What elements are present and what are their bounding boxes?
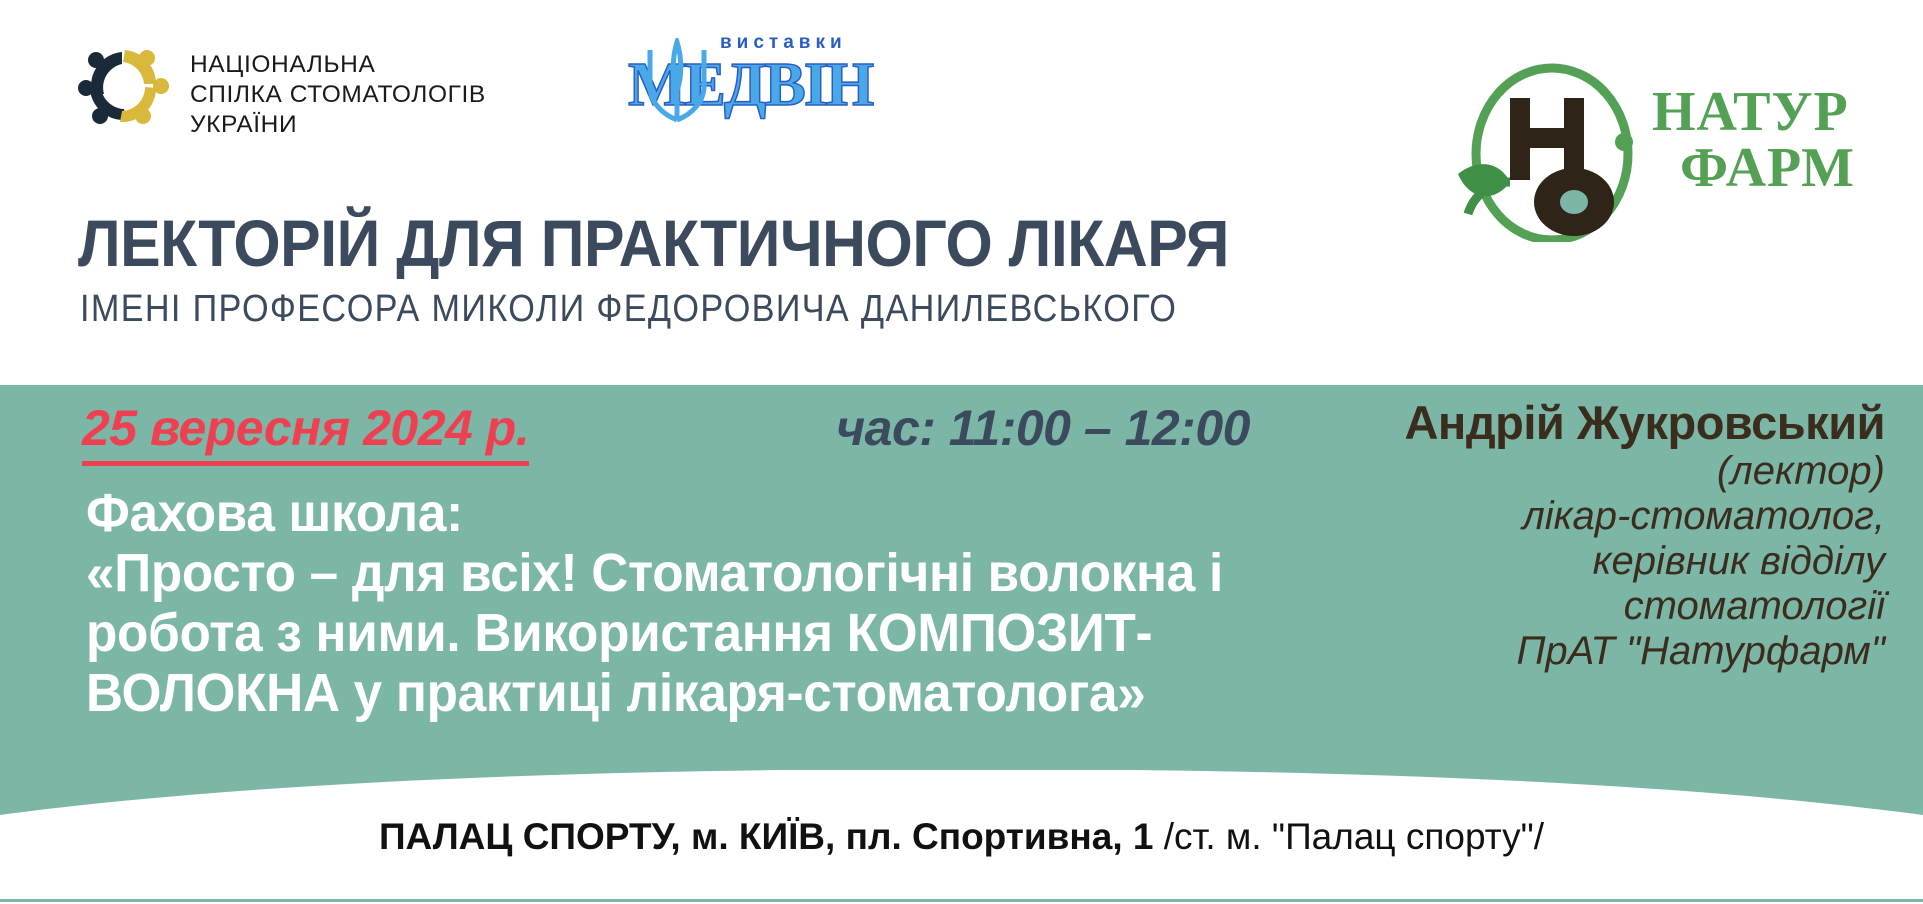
banner-footer: ПАЛАЦ СПОРТУ, м. КИЇВ, пл. Спортивна, 1 …: [0, 770, 1923, 904]
page-title: ЛЕКТОРІЙ ДЛЯ ПРАКТИЧНОГО ЛІКАРЯ: [78, 208, 1274, 278]
medvin-logo: МЕДВІН виставки: [628, 28, 868, 128]
nssu-line-1: НАЦІОНАЛЬНА: [190, 50, 500, 80]
event-date: 25 вересня 2024 р.: [82, 399, 529, 466]
naturfarm-line-2: ФАРМ: [1680, 140, 1892, 196]
naturfarm-egg-leaf-icon: [1452, 62, 1662, 242]
lecturer-title-3: стоматології: [1185, 584, 1885, 629]
school-line-2: «Просто – для всіх! Стоматологічні волок…: [86, 543, 1093, 603]
banner-header: НАЦІОНАЛЬНА СПІЛКА СТОМАТОЛОГІВ УКРАЇНИ …: [0, 0, 1923, 385]
school-line-4: ВОЛОКНА у практиці лікаря-стоматолога»: [86, 663, 1093, 723]
lecturer-role: (лектор): [1185, 449, 1885, 494]
event-banner: НАЦІОНАЛЬНА СПІЛКА СТОМАТОЛОГІВ УКРАЇНИ …: [0, 0, 1923, 904]
nssu-logo: НАЦІОНАЛЬНА СПІЛКА СТОМАТОЛОГІВ УКРАЇНИ: [70, 28, 490, 148]
naturfarm-logo: НАТУР ФАРМ: [1452, 62, 1882, 242]
school-line-1: Фахова школа:: [86, 483, 1093, 543]
nssu-logo-text: НАЦІОНАЛЬНА СПІЛКА СТОМАТОЛОГІВ УКРАЇНИ: [190, 50, 500, 140]
venue-metro-note: /ст. м. "Палац спорту"/: [1153, 816, 1544, 857]
lecturer-name: Андрій Жукровський: [1185, 397, 1885, 449]
school-line-3: робота з ними. Використання КОМПОЗИТ-: [86, 603, 1093, 663]
nssu-line-2: СПІЛКА СТОМАТОЛОГІВ: [190, 80, 500, 110]
venue-line: ПАЛАЦ СПОРТУ, м. КИЇВ, пл. Спортивна, 1 …: [0, 816, 1923, 858]
lecturer-title-1: лікар-стоматолог,: [1185, 494, 1885, 539]
venue-address: ПАЛАЦ СПОРТУ, м. КИЇВ, пл. Спортивна, 1: [379, 816, 1154, 857]
naturfarm-line-1: НАТУР: [1652, 84, 1892, 140]
footer-bottom-rule: [0, 899, 1923, 902]
event-body: 25 вересня 2024 р. час: 11:00 – 12:00 Фа…: [0, 385, 1923, 785]
nssu-line-3: УКРАЇНИ: [190, 110, 500, 140]
naturfarm-wordmark: НАТУР ФАРМ: [1652, 84, 1892, 196]
lecturer-company: ПрАТ "Натурфарм": [1185, 629, 1885, 674]
medvin-sub-label: виставки: [720, 32, 847, 54]
page-subtitle: ІМЕНІ ПРОФЕСОРА МИКОЛИ ФЕДОРОВИЧА ДАНИЛЕ…: [80, 288, 1250, 330]
lecturer-block: Андрій Жукровський (лектор) лікар-стомат…: [1185, 397, 1923, 674]
event-school-title: Фахова школа: «Просто – для всіх! Стомат…: [86, 483, 1093, 723]
footer-curve-divider: [0, 769, 1923, 815]
tryzub-icon: [638, 38, 716, 124]
lecturer-title-2: керівник відділу: [1185, 539, 1885, 584]
nssu-circular-people-icon: [70, 32, 175, 137]
